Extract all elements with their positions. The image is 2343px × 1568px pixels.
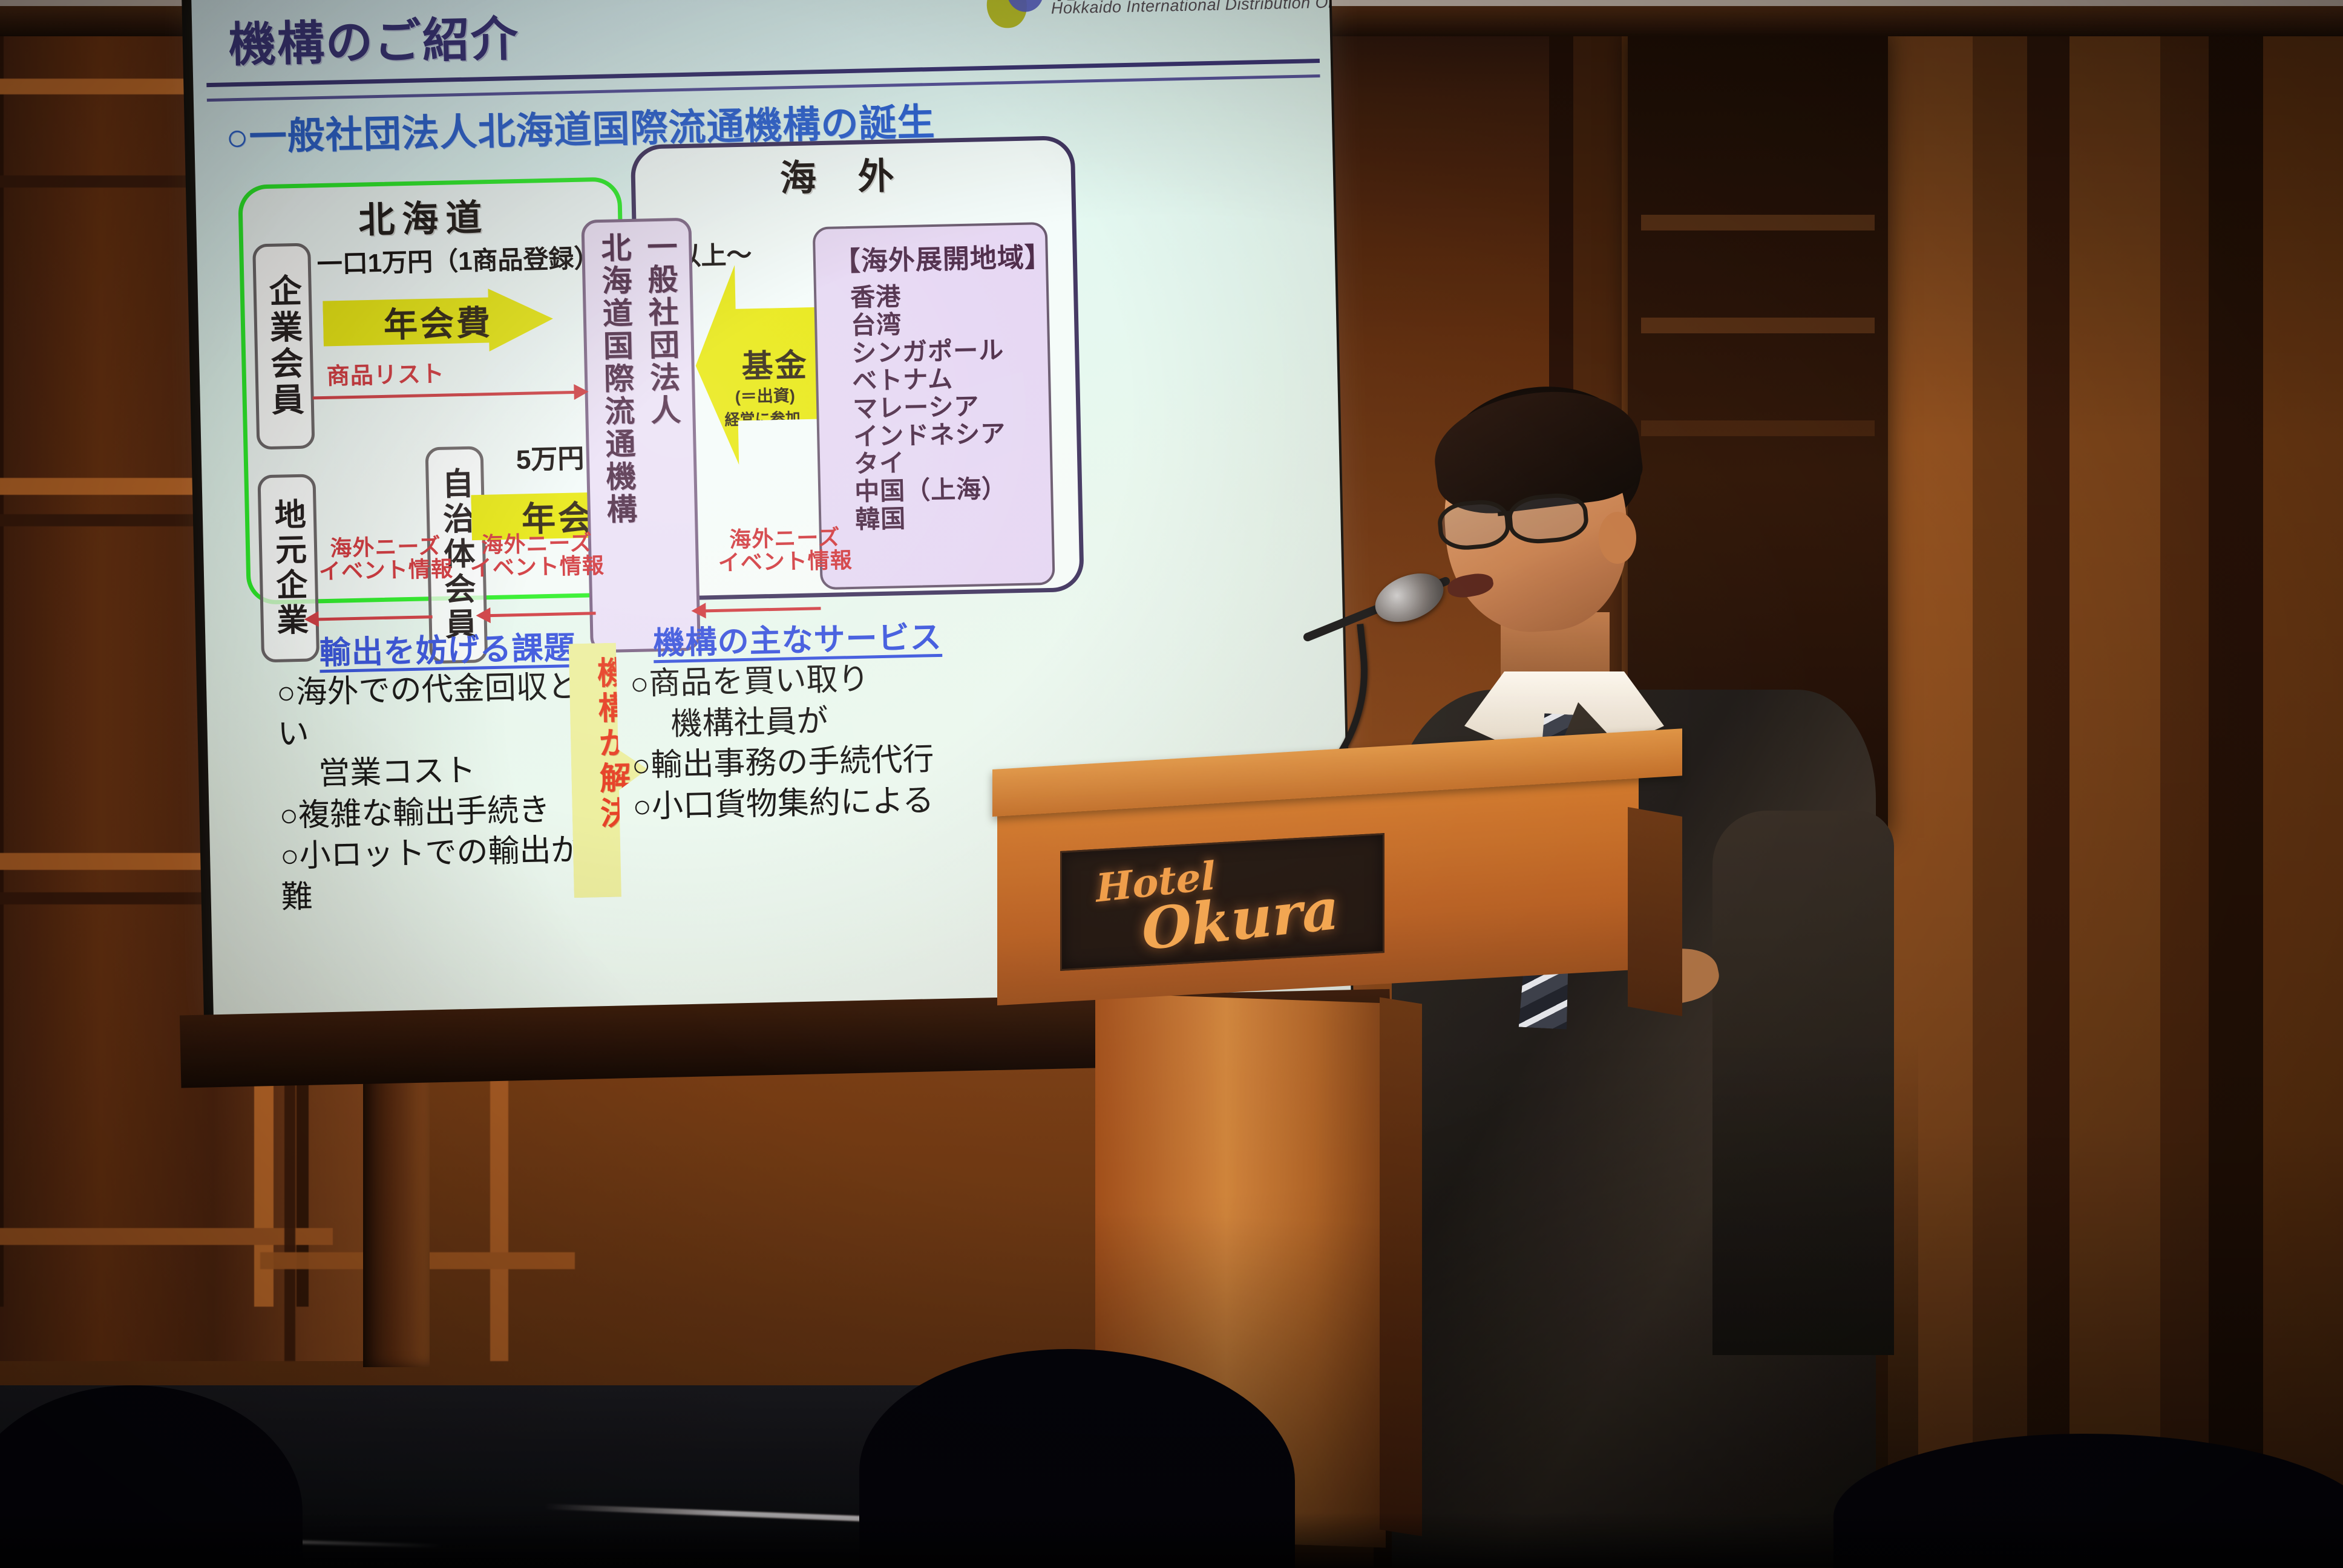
label-needs-local: 海外ニーズ イベント情報 [318,534,454,583]
region-item: マレーシア [853,391,1049,423]
slide-title: 機構のご紹介 [228,1,520,75]
overseas-panel-header: 【海外展開地域】 [833,235,1046,279]
region-item: 韓国 [855,502,1052,534]
logo-mark-icon [985,0,1042,30]
region-item: 香港 [850,280,1047,312]
needs-line2: イベント情報 [718,547,853,575]
label-needs-municipality: 海外ニーズ イベント情報 [470,531,605,580]
photo-scene: 機構のご紹介 北海道国際流通機構 Hokkaido International … [0,0,2343,1568]
region-item: 中国（上海） [854,474,1051,506]
red-arrow-to-municipality [490,612,596,617]
service-item: 機構社員が [631,697,1006,746]
region-item: 台湾 [851,308,1047,340]
note-municipality-fee: 5万円 [516,437,585,477]
service-item: ○輸出事務の手続代行 [631,742,934,783]
label-product-list: 商品リスト [326,362,445,390]
region-item: ベトナム [852,364,1049,396]
box-organization-center: 一般社団法人 北海道国際流通機構 [581,218,701,653]
arrow-fund-sub1: (＝出資) [735,382,795,407]
organization-logo: 北海道国際流通機構 Hokkaido International Distrib… [985,0,1301,44]
venue-name-plaque: Hotel Okura [1060,833,1384,971]
red-arrow-head [574,384,589,400]
needs-line2: イベント情報 [470,553,605,581]
red-arrow-from-overseas [704,607,821,612]
lectern-side-face [1628,807,1682,1016]
service-item: ○商品を買い取り [629,661,870,702]
lectern-column-side [1380,997,1422,1536]
region-item: インドネシア [853,419,1050,451]
group-label-hokkaido: 北海道 [358,188,490,244]
bottom-falloff [0,1512,2343,1568]
center-box-col-left: 北海道国際流通機構 [592,232,644,650]
red-arrow-head [304,611,319,627]
box-local-company: 地元企業 [257,474,319,662]
label-needs-overseas: 海外ニーズ イベント情報 [718,526,853,575]
heading-services: 機構の主なサービス [653,612,943,663]
region-item: タイ [854,446,1050,479]
red-arrow-head [476,607,491,624]
service-item: ○小口貨物集約による [632,783,934,825]
group-label-overseas: 海 外 [779,146,911,202]
center-box-col-right: 一般社団法人 [638,230,690,648]
overseas-region-list: 香港 台湾 シンガポール ベトナム マレーシア インドネシア タイ 中国（上海）… [850,280,1052,534]
region-item: シンガポール [851,336,1048,368]
red-arrow-to-local [318,615,433,621]
box-corporate-member: 企業会員 [252,243,315,449]
speaker-arm [1712,811,1894,1355]
barrier-item: ○海外での代金回収と高い [277,668,611,752]
barrier-item: ○小ロットでの輸出が困難 [280,832,615,915]
arrow-fund-label: 基金 [741,340,809,387]
list-services: ○商品を買い取り 機構社員が ○輸出事務の手続代行 ○小口貨物集約による [629,656,1008,828]
barrier-item: ○複雑な輸出手続き [279,792,551,834]
speaker-ear [1599,512,1636,564]
heading-export-barriers: 輸出を妨げる課題 [319,622,577,673]
needs-line2: イベント情報 [318,557,453,584]
logo-en-name: Hokkaido International Distribution Orga… [1051,0,1351,18]
